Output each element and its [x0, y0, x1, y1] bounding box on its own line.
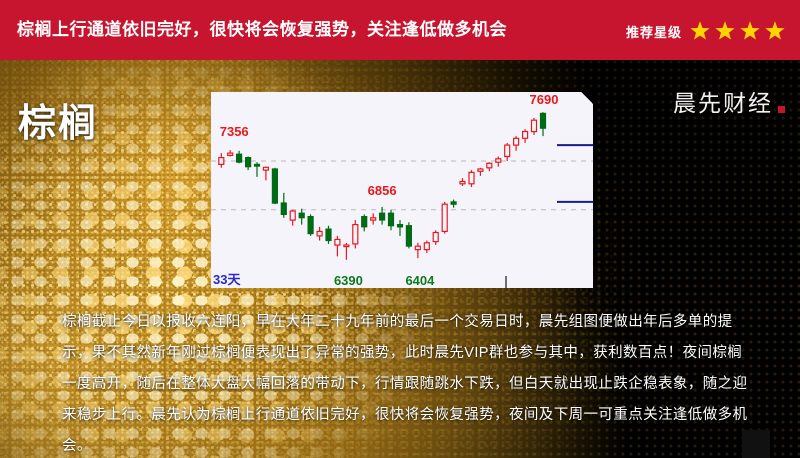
headline-text: 棕榈上行通道依旧完好，很快将会恢复强势，关注逢低做多机会 [17, 18, 507, 42]
star-icon [739, 20, 761, 42]
star-icon [764, 20, 786, 42]
svg-text:33天: 33天 [213, 272, 241, 287]
page-title: 棕榈 [18, 92, 98, 147]
brand-name: 晨先财经 [673, 84, 773, 118]
star-icon [714, 20, 736, 42]
candlestick-series: 7356639068566404769033天 [211, 92, 593, 288]
svg-text:6856: 6856 [368, 183, 397, 198]
corner-watermark [742, 430, 770, 458]
star-rating [689, 20, 786, 42]
header-bar: 棕榈上行通道依旧完好，很快将会恢复强势，关注逢低做多机会 推荐星级 [0, 0, 800, 60]
candlestick-chart[interactable]: 7356639068566404769033天 [211, 92, 593, 288]
svg-text:6390: 6390 [334, 273, 363, 288]
star-icon [689, 20, 711, 42]
svg-text:7690: 7690 [530, 92, 559, 107]
svg-text:7356: 7356 [220, 124, 249, 139]
recommendation-rating: 推荐星级 [626, 20, 786, 42]
brand-dot-icon [778, 106, 785, 113]
article-body: 棕榈截止今日以报收六连阳，早在大年二十九年前的最后一个交易日时，晨先组图便做出年… [62, 307, 752, 458]
poster-stage: 棕榈上行通道依旧完好，很快将会恢复强势，关注逢低做多机会 推荐星级 棕榈 晨先财… [0, 0, 800, 458]
svg-text:6404: 6404 [405, 273, 435, 288]
brand-mark: 晨先财经 [673, 84, 785, 118]
rating-label: 推荐星级 [626, 22, 682, 41]
chart-corner-fold [581, 92, 593, 104]
